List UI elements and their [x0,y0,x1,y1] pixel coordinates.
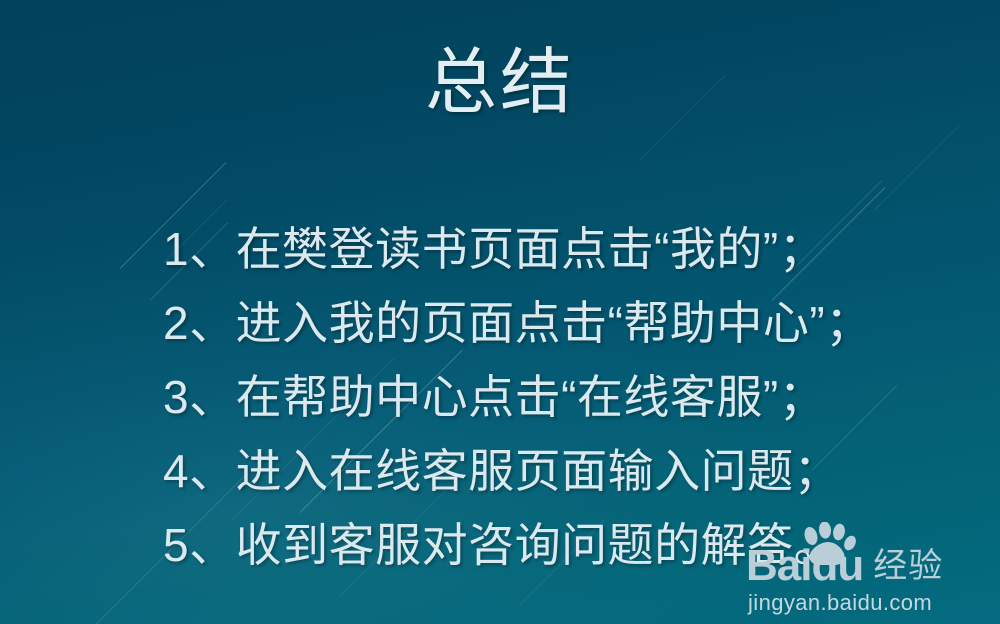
list-item: 2、进入我的页面点击“帮助中心”； [163,286,983,360]
diagonal-streak [874,125,960,211]
list-item: 1、在樊登读书页面点击“我的”； [163,212,983,286]
presentation-slide: 总结 1、在樊登读书页面点击“我的”； 2、进入我的页面点击“帮助中心”； 3、… [0,0,1000,624]
summary-step-list: 1、在樊登读书页面点击“我的”； 2、进入我的页面点击“帮助中心”； 3、在帮助… [163,212,983,582]
page-title: 总结 [0,41,1000,125]
list-item: 5、收到客服对咨询问题的解答。 [163,508,983,582]
watermark-url: jingyan.baidu.com [746,590,984,616]
list-item: 3、在帮助中心点击“在线客服”； [163,360,983,434]
list-item: 4、进入在线客服页面输入问题； [163,434,983,508]
